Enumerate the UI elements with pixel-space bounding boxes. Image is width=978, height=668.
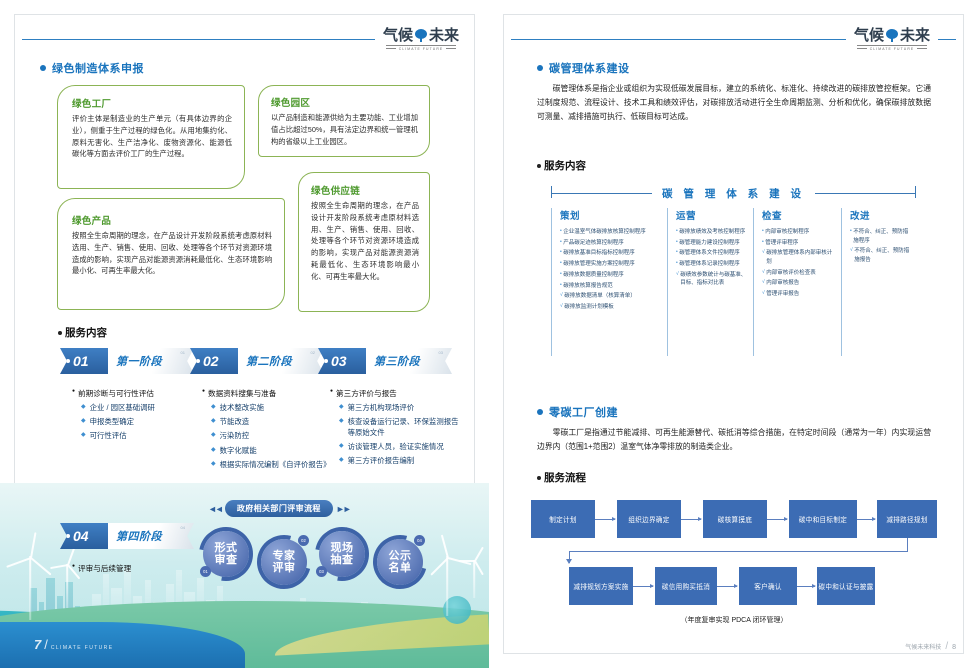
- card-title: 绿色产品: [72, 213, 272, 227]
- phase-index-small: 03: [439, 350, 443, 355]
- footer-brand-cn: 气候未来科技: [905, 642, 941, 651]
- document-spread: 气候 未来 CLIMATE FUTURE 绿色制造体系申报 绿色工厂 评价主体是…: [0, 0, 978, 668]
- section-title-zero-carbon: 零碳工厂创建: [537, 404, 618, 420]
- table-row: √碳排放数据清单（核算清单）: [560, 292, 662, 301]
- flow-arrow: [767, 519, 787, 520]
- card-body: 以产品制造和能源供给为主要功能、工业增加值占比超过50%，具有法定边界和统一管理…: [271, 112, 418, 147]
- phase-index-small: 01: [181, 350, 185, 355]
- table-title-row: 碳 管 理 体 系 建 设: [489, 186, 978, 201]
- table-row: •碳管理体系文件控制程序: [676, 249, 748, 258]
- table-column-operation: 运营 •碳排放绩效及考核控制程序 •碳管理能力建设控制程序 •碳管理体系文件控制…: [667, 208, 753, 356]
- phase-lead: 数据资料搜集与准备: [202, 388, 327, 399]
- bullet-dot-icon: [58, 331, 62, 335]
- wind-turbine-icon: [461, 544, 487, 598]
- header-rule-left: [22, 39, 375, 40]
- table-row: √内部审核评价检查表: [762, 269, 836, 278]
- phase-01-list: 前期诊断与可行性评估 ◆企业 / 园区基础调研 ◆申报类型确定 ◆可行性评估: [72, 388, 207, 446]
- table-row: •碳排放核算报告规范: [560, 282, 662, 291]
- left-arrows-icon: ◄◄: [208, 504, 222, 514]
- phase-number: 02: [203, 353, 219, 369]
- phase-label: 第二阶段: [246, 353, 292, 369]
- table-row: •碳排放管理实施方案控制程序: [560, 260, 662, 269]
- phase-label-body: 第二阶段 02: [238, 348, 324, 374]
- table-row: •碳管理体系记录控制程序: [676, 260, 748, 269]
- logo-text-cn-part2: 未来: [429, 28, 459, 43]
- right-page-footer: 气候未来科技 / 8: [905, 641, 956, 652]
- phase-banner-02: 02 第二阶段 02: [190, 348, 324, 374]
- subhead-text: 服务内容: [65, 325, 107, 340]
- table-row: √管理评审报告: [762, 290, 836, 299]
- flow-arrow: [857, 519, 875, 520]
- bullet-dot-icon: [537, 476, 541, 480]
- phase-banner-04: 04 第四阶段 04: [60, 523, 194, 549]
- diamond-icon: ◆: [81, 417, 86, 428]
- right-page-header: 气候 未来 CLIMATE FUTURE: [511, 26, 956, 52]
- table-row: •碳排放数据质量控制程序: [560, 271, 662, 280]
- table-row: •碳排放绩效及考核控制程序: [676, 228, 748, 237]
- phase-number: 04: [73, 528, 89, 544]
- flow-box: 减排路径规划: [877, 500, 937, 538]
- phase-dot-icon: [66, 359, 70, 363]
- phase-dot-icon: [324, 359, 328, 363]
- brand-logo: 气候 未来 CLIMATE FUTURE: [375, 28, 467, 51]
- section-title-text: 碳管理体系建设: [549, 60, 630, 76]
- service-flow-chart: 制定计划 组织边界确定 碳核算摸底 碳中和目标制定 减排路径规划 减排规划方案实…: [531, 495, 937, 625]
- section-title-carbon-mgmt: 碳管理体系建设: [537, 60, 630, 76]
- gov-review-ribbon-wrap: ◄◄ 政府相关部门评审流程 ►►: [208, 500, 350, 517]
- flow-connector-down: [907, 538, 908, 551]
- logo-text-cn-part2: 未来: [900, 28, 930, 43]
- card-body: 按照全生命周期的理念，在产品设计开发阶段系统考虑原材料选用、生产、销售、使用、回…: [72, 230, 272, 277]
- table-row: •企业温室气体碳排放核算控制程序: [560, 228, 662, 237]
- phase-label-body: 第四阶段 04: [108, 523, 194, 549]
- carbon-mgmt-paragraph: 碳管理体系是指企业或组织为实现低碳发展目标，建立的系统化、标准化、持续改进的碳排…: [537, 82, 931, 125]
- left-page-footer: 7 / CLIMATE FUTURE: [34, 637, 113, 652]
- table-row: •碳管理能力建设控制程序: [676, 239, 748, 248]
- list-item: ◆可行性评估: [81, 431, 207, 442]
- bullet-dot-icon: [537, 65, 543, 71]
- table-row: √内部审核报告: [762, 279, 836, 288]
- subhead-service-content-right: 服务内容: [537, 158, 586, 173]
- phase-04-list: 评审与后续管理: [72, 563, 212, 578]
- card-green-park: 绿色园区 以产品制造和能源供给为主要功能、工业增加值占比超过50%，具有法定边界…: [258, 85, 430, 157]
- diamond-icon: ◆: [339, 456, 344, 467]
- flow-box: 碳信用购买抵消: [655, 567, 717, 605]
- logo-text-cn-part1: 气候: [854, 28, 884, 43]
- list-item: ◆第三方评价报告编制: [339, 456, 460, 467]
- zero-carbon-paragraph: 零碳工厂是指通过节能减排、可再生能源替代、碳抵消等综合措施，在特定时间段（通常为…: [537, 426, 931, 454]
- table-rule-left: [552, 193, 652, 194]
- table-row: •管理评审程序: [762, 239, 836, 248]
- card-title: 绿色供应链: [311, 183, 419, 197]
- left-page: 气候 未来 CLIMATE FUTURE 绿色制造体系申报 绿色工厂 评价主体是…: [0, 0, 489, 668]
- left-page-header: 气候 未来 CLIMATE FUTURE: [22, 26, 467, 52]
- card-green-factory: 绿色工厂 评价主体是制造业的生产单元（有具体边界的企业），侧重于生产过程的绿色化…: [57, 85, 245, 189]
- flow-box: 组织边界确定: [617, 500, 681, 538]
- logo-text-en: CLIMATE FUTURE: [386, 45, 457, 51]
- brand-logo: 气候 未来 CLIMATE FUTURE: [846, 28, 938, 51]
- diamond-icon: ◆: [81, 431, 86, 442]
- table-column-inspection: 检查 •内部审核控制程序 •管理评审程序 √碳排放管理体系内部审核计划 √内部审…: [753, 208, 841, 356]
- list-item: ◆节能改造: [211, 417, 327, 428]
- subhead-service-content-left: 服务内容: [58, 325, 107, 340]
- gov-review-ribbon: 政府相关部门评审流程: [225, 500, 333, 517]
- list-item: ◆数字化赋能: [211, 446, 327, 457]
- circle-number-badge: 04: [414, 535, 425, 546]
- diamond-icon: ◆: [339, 417, 344, 438]
- flow-arrow: [717, 586, 737, 587]
- card-body: 评价主体是制造业的生产单元（有具体边界的企业），侧重于生产过程的绿色化。从用地集…: [72, 113, 232, 160]
- phase-label: 第三阶段: [374, 353, 420, 369]
- flow-box: 减排规划方案实施: [569, 567, 633, 605]
- column-header: 改进: [850, 208, 912, 222]
- flow-note: （年度复审实现 PDCA 闭环管理）: [531, 615, 937, 625]
- list-item: ◆核查设备运行记录、环保监测报告等原始文件: [339, 417, 460, 438]
- bullet-dot-icon: [537, 164, 541, 168]
- flow-box: 碳核算摸底: [703, 500, 767, 538]
- table-row: √碳排放管理体系内部审核计划: [762, 249, 836, 266]
- subhead-service-flow: 服务流程: [537, 470, 586, 485]
- flow-box: 制定计划: [531, 500, 595, 538]
- gov-step-circle-02: 专家 评审 02: [257, 535, 311, 589]
- wind-turbine-icon: [52, 548, 82, 608]
- diamond-icon: ◆: [339, 403, 344, 414]
- diamond-icon: ◆: [211, 403, 216, 414]
- phase-label: 第四阶段: [116, 528, 162, 544]
- phase-label-body: 第三阶段 03: [366, 348, 452, 374]
- column-header: 检查: [762, 208, 836, 222]
- phase-02-list: 数据资料搜集与准备 ◆技术整改实施 ◆节能改造 ◆污染防控 ◆数字化赋能 ◆根据…: [202, 388, 327, 474]
- table-row: √碳排放监测计划模板: [560, 303, 662, 312]
- lightbulb-leaf-icon: [415, 29, 427, 42]
- list-item: ◆根据实际情况编制《自评价报告》: [211, 460, 327, 471]
- phase-number: 01: [73, 353, 89, 369]
- wind-turbine-icon: [10, 538, 50, 620]
- circle-number-badge: 01: [200, 566, 211, 577]
- subhead-text: 服务内容: [544, 158, 586, 173]
- phase-number-tag: 01: [60, 348, 108, 374]
- flow-arrow: [797, 586, 815, 587]
- circle-ball: 专家 评审: [261, 539, 307, 585]
- phase-lead: 前期诊断与可行性评估: [72, 388, 207, 399]
- section-title-text: 零碳工厂创建: [549, 404, 618, 420]
- page-number: 8: [952, 644, 956, 651]
- wind-turbine-icon: [429, 538, 465, 616]
- right-page: 气候 未来 CLIMATE FUTURE 碳管理体系建设 碳管理体系是指企业或组…: [489, 0, 978, 668]
- flow-connector-arrowhead: [566, 559, 572, 564]
- phase-index-small: 02: [311, 350, 315, 355]
- list-item: ◆企业 / 园区基础调研: [81, 403, 207, 414]
- footer-slash: /: [44, 637, 48, 652]
- lightbulb-leaf-icon: [886, 29, 898, 42]
- phase-lead: 评审与后续管理: [72, 563, 212, 574]
- card-green-supply-chain: 绿色供应链 按照全生命周期的理念，在产品设计开发阶段系统考虑原材料选用、生产、销…: [298, 172, 430, 312]
- list-item: ◆访谈管理人员，验证实施情况: [339, 442, 460, 453]
- logo-text-cn-part1: 气候: [383, 28, 413, 43]
- bullet-dot-icon: [537, 409, 543, 415]
- gov-step-circle-01: 形式 审查 01: [199, 527, 253, 581]
- circle-number-badge: 02: [298, 535, 309, 546]
- footer-brand-en: CLIMATE FUTURE: [51, 645, 114, 651]
- diamond-icon: ◆: [211, 417, 216, 428]
- section-title-green-manufacturing: 绿色制造体系申报: [40, 60, 144, 76]
- carbon-mgmt-table: 策划 •企业温室气体碳排放核算控制程序 •产品碳足迹核算控制程序 •碳排放基准目…: [551, 208, 917, 356]
- right-arrows-icon: ►►: [336, 504, 350, 514]
- logo-text-en: CLIMATE FUTURE: [857, 45, 928, 51]
- phase-number-tag: 02: [190, 348, 238, 374]
- list-item: ◆技术整改实施: [211, 403, 327, 414]
- phase-index-small: 04: [181, 525, 185, 530]
- table-corner-right: [915, 186, 916, 198]
- list-item: ◆第三方机构现场评价: [339, 403, 460, 414]
- card-green-product: 绿色产品 按照全生命周期的理念，在产品设计开发阶段系统考虑原材料选用、生产、销售…: [57, 198, 285, 310]
- phase-dot-icon: [66, 534, 70, 538]
- header-rule-right: [938, 39, 956, 40]
- bullet-dot-icon: [40, 65, 46, 71]
- flow-box: 客户确认: [739, 567, 797, 605]
- table-rule-right: [815, 193, 915, 194]
- header-rule-left: [511, 39, 846, 40]
- circle-ball: 公示 名单: [377, 539, 423, 585]
- diamond-icon: ◆: [211, 460, 216, 471]
- flow-arrow: [595, 519, 615, 520]
- flow-arrow: [681, 519, 701, 520]
- column-header: 运营: [676, 208, 748, 222]
- table-corner-left: [551, 186, 552, 198]
- table-row: √碳绩效参数统计与碳基准、目标、指标对比表: [676, 271, 748, 288]
- diamond-icon: ◆: [211, 431, 216, 442]
- gov-step-circle-04: 公示 名单 04: [373, 535, 427, 589]
- phase-label: 第一阶段: [116, 353, 162, 369]
- phase-number-tag: 04: [60, 523, 108, 549]
- phase-number-tag: 03: [318, 348, 366, 374]
- table-row: •碳排放基准目标指标控制程序: [560, 249, 662, 258]
- gov-step-circle-03: 现场 抽查 03: [315, 527, 369, 581]
- subhead-text: 服务流程: [544, 470, 586, 485]
- flow-box: 碳中和目标制定: [789, 500, 857, 538]
- table-title: 碳 管 理 体 系 建 设: [652, 186, 815, 201]
- list-item: ◆污染防控: [211, 431, 327, 442]
- card-title: 绿色工厂: [72, 96, 232, 110]
- list-item: ◆申报类型确定: [81, 417, 207, 428]
- diamond-icon: ◆: [339, 442, 344, 453]
- phase-banner-03: 03 第三阶段 03: [318, 348, 452, 374]
- table-column-improvement: 改进 •不符合、纠正、预防措施程序 √不符合、纠正、预防措施报告: [841, 208, 917, 356]
- card-body: 按照全生命周期的理念，在产品设计开发阶段系统考虑原材料选用、生产、销售、使用、回…: [311, 200, 419, 283]
- diamond-icon: ◆: [211, 446, 216, 457]
- flow-box: 碳中和认证与披露: [817, 567, 875, 605]
- phase-label-body: 第一阶段 01: [108, 348, 194, 374]
- circle-number-badge: 03: [316, 566, 327, 577]
- column-header: 策划: [560, 208, 662, 222]
- phase-number: 03: [331, 353, 347, 369]
- phase-lead: 第三方评价与报告: [330, 388, 460, 399]
- flow-connector-across: [569, 551, 908, 552]
- phase-03-list: 第三方评价与报告 ◆第三方机构现场评价 ◆核查设备运行记录、环保监测报告等原始文…: [330, 388, 460, 471]
- footer-slash: /: [945, 641, 948, 652]
- table-column-planning: 策划 •企业温室气体碳排放核算控制程序 •产品碳足迹核算控制程序 •碳排放基准目…: [551, 208, 667, 356]
- card-title: 绿色园区: [271, 95, 418, 109]
- flow-arrow: [633, 586, 653, 587]
- phase-dot-icon: [196, 359, 200, 363]
- diamond-icon: ◆: [81, 403, 86, 414]
- phase-banner-01: 01 第一阶段 01: [60, 348, 194, 374]
- table-row: •内部审核控制程序: [762, 228, 836, 237]
- table-row: √不符合、纠正、预防措施报告: [850, 247, 912, 264]
- table-row: •产品碳足迹核算控制程序: [560, 239, 662, 248]
- table-row: •不符合、纠正、预防措施程序: [850, 228, 912, 245]
- section-title-text: 绿色制造体系申报: [52, 60, 144, 76]
- page-number: 7: [34, 637, 41, 652]
